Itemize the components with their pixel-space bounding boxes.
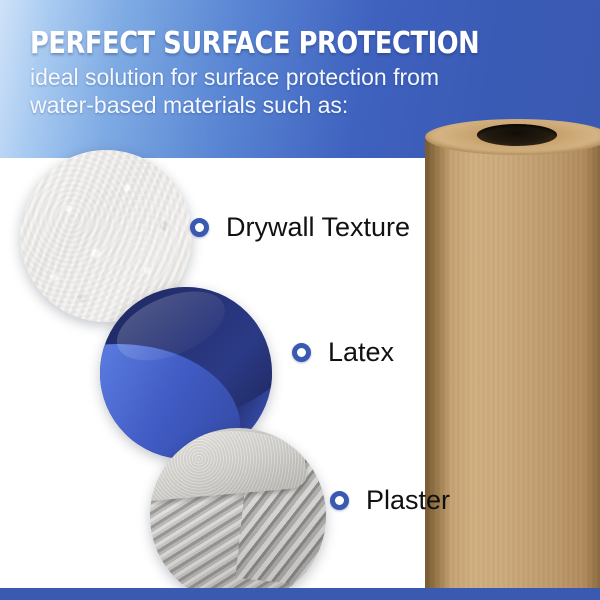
feature-item-latex: Latex (292, 337, 394, 367)
roll-shadow-left (425, 135, 451, 600)
kraft-paper-roll-image (425, 119, 600, 600)
feature-label: Drywall Texture (226, 212, 410, 242)
ring-bullet-icon (292, 343, 311, 362)
roll-shadow-right (584, 135, 600, 600)
ring-bullet-icon (330, 491, 349, 510)
roll-body (425, 135, 600, 600)
ring-bullet-icon (190, 218, 209, 237)
feature-item-plaster: Plaster (330, 485, 450, 515)
roll-top-ellipse (425, 119, 600, 155)
plaster-boards-photo (150, 428, 326, 600)
page-title: PERFECT SURFACE PROTECTION (30, 27, 548, 61)
feature-item-drywall-texture: Drywall Texture (190, 212, 410, 242)
roll-core-hole (477, 124, 557, 146)
subtitle-line-1: ideal solution for surface protection fr… (30, 64, 590, 91)
footer-accent-bar (0, 588, 600, 600)
subtitle-line-2: water-based materials such as: (30, 92, 590, 119)
plaster-shading-overlay (150, 428, 326, 600)
infographic-canvas: PERFECT SURFACE PROTECTION ideal solutio… (0, 0, 600, 600)
feature-label: Plaster (366, 485, 450, 515)
feature-label: Latex (328, 337, 394, 367)
